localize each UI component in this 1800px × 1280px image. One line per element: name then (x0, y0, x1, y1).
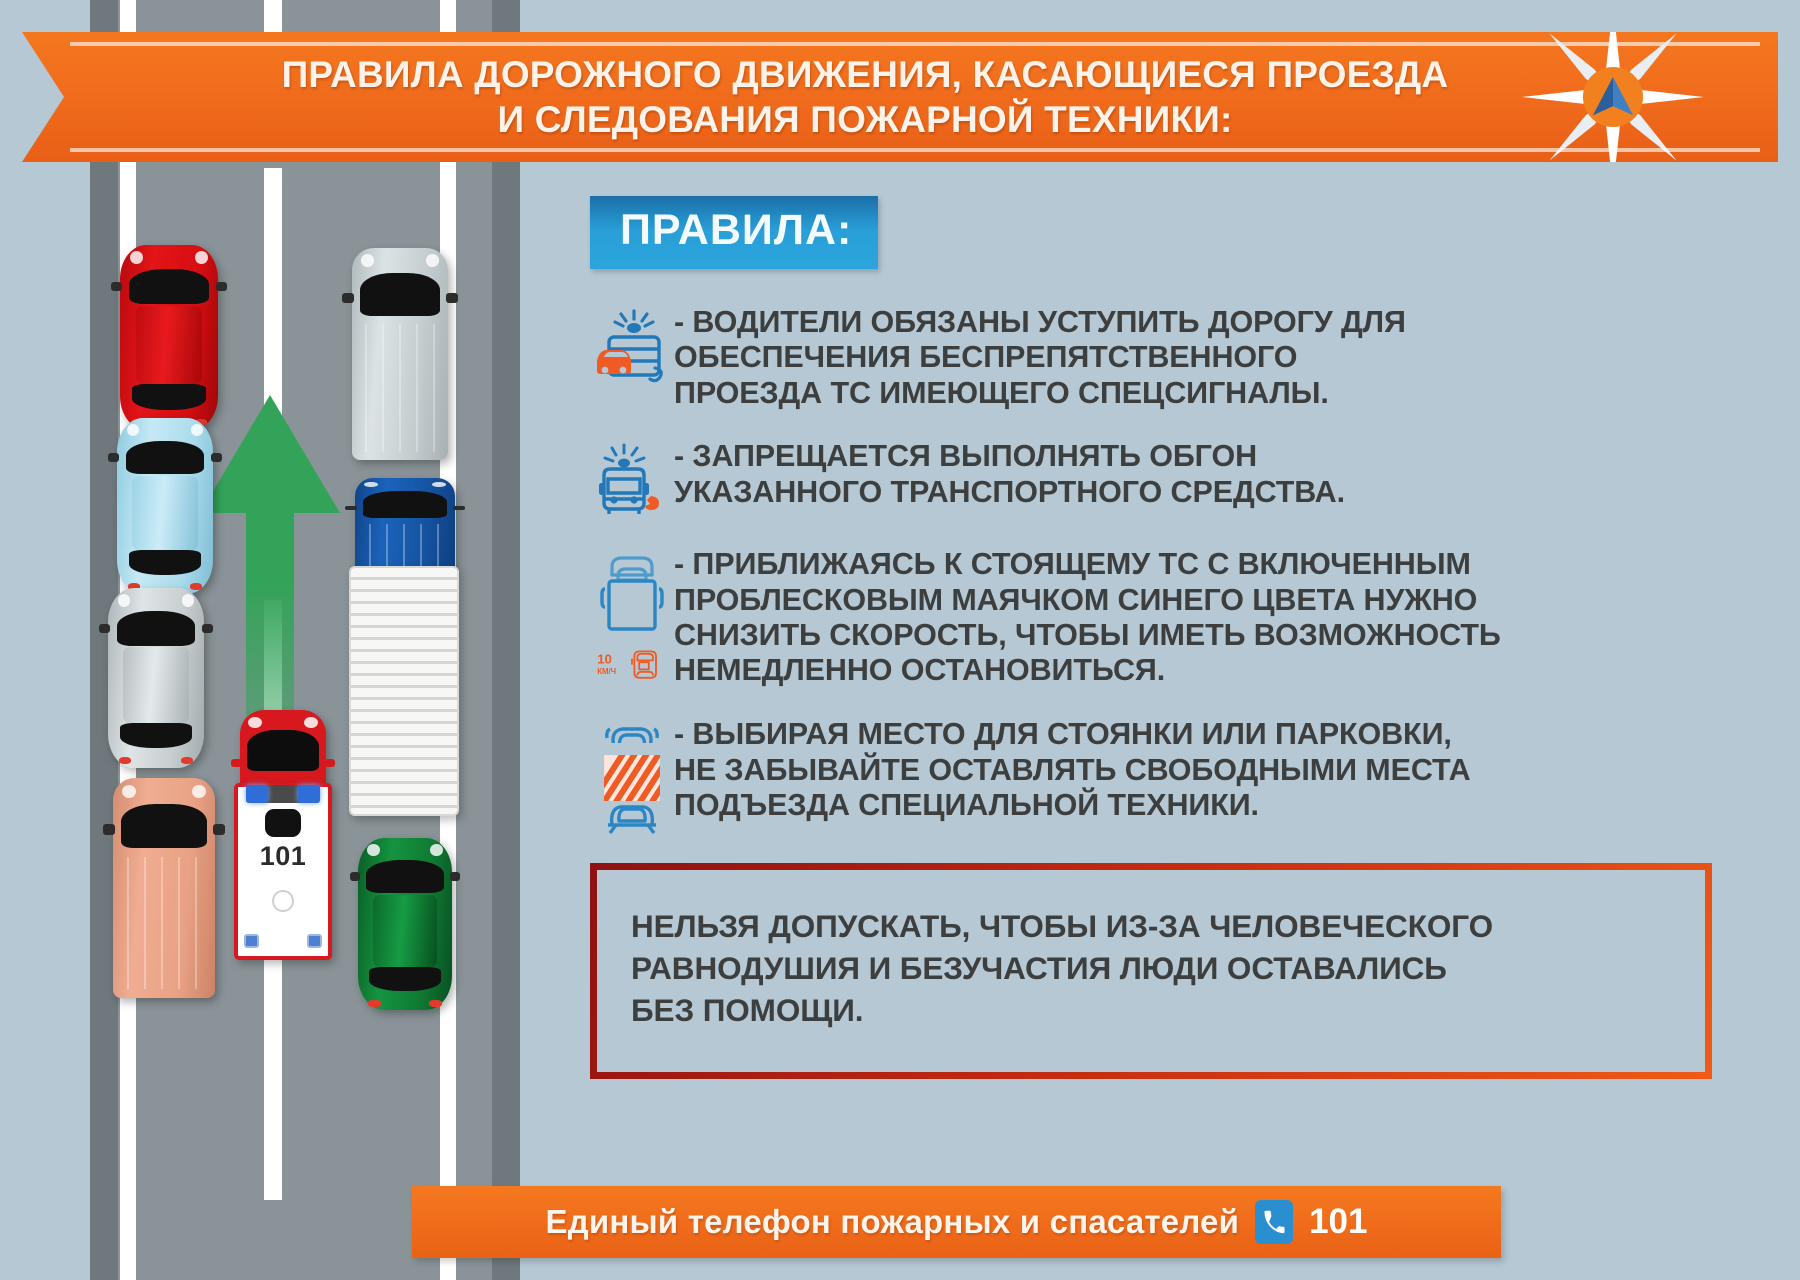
fire-truck-no-overtake-icon (593, 443, 671, 519)
red-car (120, 245, 218, 430)
footer-bar: Единый телефон пожарных и спасателей 101 (412, 1186, 1501, 1258)
page-title-line-1: ПРАВИЛА ДОРОЖНОГО ДВИЖЕНИЯ, КАСАЮЩИЕСЯ П… (92, 52, 1638, 97)
rule-1-icon-col (590, 303, 674, 383)
fire-truck-unit-number: 101 (238, 841, 328, 872)
rule-3-line-4: НЕМЕДЛЕННО ОСТАНОВИТЬСЯ. (674, 653, 1776, 688)
no-parking-zone-icon (596, 721, 668, 837)
speed-unit: КМ/Ч (597, 667, 616, 676)
rule-4-line-1: - ВЫБИРАЯ МЕСТО ДЛЯ СТОЯНКИ ИЛИ ПАРКОВКИ… (674, 717, 1776, 752)
silver-car (108, 588, 204, 768)
fire-truck-lamp-left (244, 934, 258, 948)
fire-truck-beacon-bar (246, 785, 320, 803)
salmon-truck (113, 778, 215, 998)
rule-2-line-2: УКАЗАННОГО ТРАНСПОРТНОГО СРЕДСТВА. (674, 475, 1776, 510)
rules-heading: ПРАВИЛА: (590, 196, 878, 269)
beacon-left (246, 785, 268, 803)
blue-truck-cab (355, 478, 455, 570)
rule-4-text: - ВЫБИРАЯ МЕСТО ДЛЯ СТОЯНКИ ИЛИ ПАРКОВКИ… (674, 715, 1776, 823)
road-shoulder-right (492, 0, 520, 1280)
rule-item-2: - ЗАПРЕЩАЕТСЯ ВЫПОЛНЯТЬ ОБГОН УКАЗАННОГО… (590, 437, 1776, 519)
rule-item-4: - ВЫБИРАЯ МЕСТО ДЛЯ СТОЯНКИ ИЛИ ПАРКОВКИ… (590, 715, 1776, 837)
rule-1-line-2: ОБЕСПЕЧЕНИЯ БЕСПРЕПЯТСТВЕННОГО (674, 340, 1776, 375)
rule-4-line-3: ПОДЪЕЗДА СПЕЦИАЛЬНОЙ ТЕХНИКИ. (674, 788, 1776, 823)
slow-speed-car-icon: 10 КМ/Ч (596, 639, 668, 689)
center-dash-2 (264, 168, 282, 423)
warning-line-2: РАВНОДУШИЯ И БЕЗУЧАСТИЯ ЛЮДИ ОСТАВАЛИСЬ (631, 948, 1675, 990)
rule-1-line-3: ПРОЕЗДА ТС ИМЕЮЩЕГО СПЕЦСИГНАЛЫ. (674, 376, 1776, 411)
rule-2-icon-col (590, 437, 674, 519)
rule-3-line-1: - ПРИБЛИЖАЯСЬ К СТОЯЩЕМУ ТС С ВКЛЮЧЕННЫМ (674, 547, 1776, 582)
parked-vehicle-beacon-icon (596, 551, 668, 635)
silver-truck (352, 248, 448, 460)
emergency-phone-number: 101 (1309, 1202, 1367, 1242)
police-car-yield-icon (593, 309, 671, 383)
speed-value: 10 (597, 652, 612, 667)
rule-4-icon-col (590, 715, 674, 837)
rule-3-icon-col: 10 КМ/Ч (590, 545, 674, 689)
warning-line-3: БЕЗ ПОМОЩИ. (631, 990, 1675, 1032)
footer-label: Единый телефон пожарных и спасателей (546, 1203, 1240, 1241)
hatched-keepout-zone (596, 743, 668, 809)
lightblue-car (117, 418, 213, 594)
fire-truck-reel (272, 890, 294, 912)
fire-truck-lamp-right (307, 934, 321, 948)
rules-list: - ВОДИТЕЛИ ОБЯЗАНЫ УСТУПИТЬ ДОРОГУ ДЛЯ О… (590, 303, 1776, 837)
warning-line-1: НЕЛЬЗЯ ДОПУСКАТЬ, ЧТОБЫ ИЗ-ЗА ЧЕЛОВЕЧЕСК… (631, 906, 1675, 948)
warning-box: НЕЛЬЗЯ ДОПУСКАТЬ, ЧТОБЫ ИЗ-ЗА ЧЕЛОВЕЧЕСК… (590, 863, 1712, 1079)
fire-truck-body: 101 (234, 783, 332, 961)
fire-truck-101: 101 (234, 710, 332, 960)
rule-3-line-3: СНИЗИТЬ СКОРОСТЬ, ЧТОБЫ ИМЕТЬ ВОЗМОЖНОСТ… (674, 618, 1776, 653)
fire-truck-hatch (265, 809, 301, 838)
rule-item-1: - ВОДИТЕЛИ ОБЯЗАНЫ УСТУПИТЬ ДОРОГУ ДЛЯ О… (590, 303, 1776, 411)
page-title: ПРАВИЛА ДОРОЖНОГО ДВИЖЕНИЯ, КАСАЮЩИЕСЯ П… (22, 52, 1778, 142)
rule-1-text: - ВОДИТЕЛИ ОБЯЗАНЫ УСТУПИТЬ ДОРОГУ ДЛЯ О… (674, 303, 1776, 411)
emercom-star-logo (1522, 6, 1704, 188)
telephone-handset-icon (1255, 1200, 1293, 1244)
page-title-line-2: И СЛЕДОВАНИЯ ПОЖАРНОЙ ТЕХНИКИ: (92, 97, 1638, 142)
rule-item-3: 10 КМ/Ч - ПРИБЛИЖАЯСЬ К СТОЯЩЕМУ ТС С ВК… (590, 545, 1776, 689)
rule-4-line-2: НЕ ЗАБЫВАЙТЕ ОСТАВЛЯТЬ СВОБОДНЫМИ МЕСТА (674, 753, 1776, 788)
rule-3-text: - ПРИБЛИЖАЯСЬ К СТОЯЩЕМУ ТС С ВКЛЮЧЕННЫМ… (674, 545, 1776, 689)
rules-panel: ПРАВИЛА: (590, 196, 1776, 1079)
warning-text: НЕЛЬЗЯ ДОПУСКАТЬ, ЧТОБЫ ИЗ-ЗА ЧЕЛОВЕЧЕСК… (631, 906, 1675, 1032)
beacon-right (298, 785, 320, 803)
road-illustration: 101 (0, 0, 520, 1280)
rule-1-line-1: - ВОДИТЕЛИ ОБЯЗАНЫ УСТУПИТЬ ДОРОГУ ДЛЯ (674, 305, 1776, 340)
rule-2-text: - ЗАПРЕЩАЕТСЯ ВЫПОЛНЯТЬ ОБГОН УКАЗАННОГО… (674, 437, 1776, 510)
header-ribbon: ПРАВИЛА ДОРОЖНОГО ДВИЖЕНИЯ, КАСАЮЩИЕСЯ П… (22, 32, 1778, 162)
white-trailer (349, 566, 459, 816)
rule-3-line-2: ПРОБЛЕСКОВЫМ МАЯЧКОМ СИНЕГО ЦВЕТА НУЖНО (674, 583, 1776, 618)
center-dash-4 (264, 930, 282, 1200)
green-car (358, 838, 452, 1010)
rule-2-line-1: - ЗАПРЕЩАЕТСЯ ВЫПОЛНЯТЬ ОБГОН (674, 439, 1776, 474)
